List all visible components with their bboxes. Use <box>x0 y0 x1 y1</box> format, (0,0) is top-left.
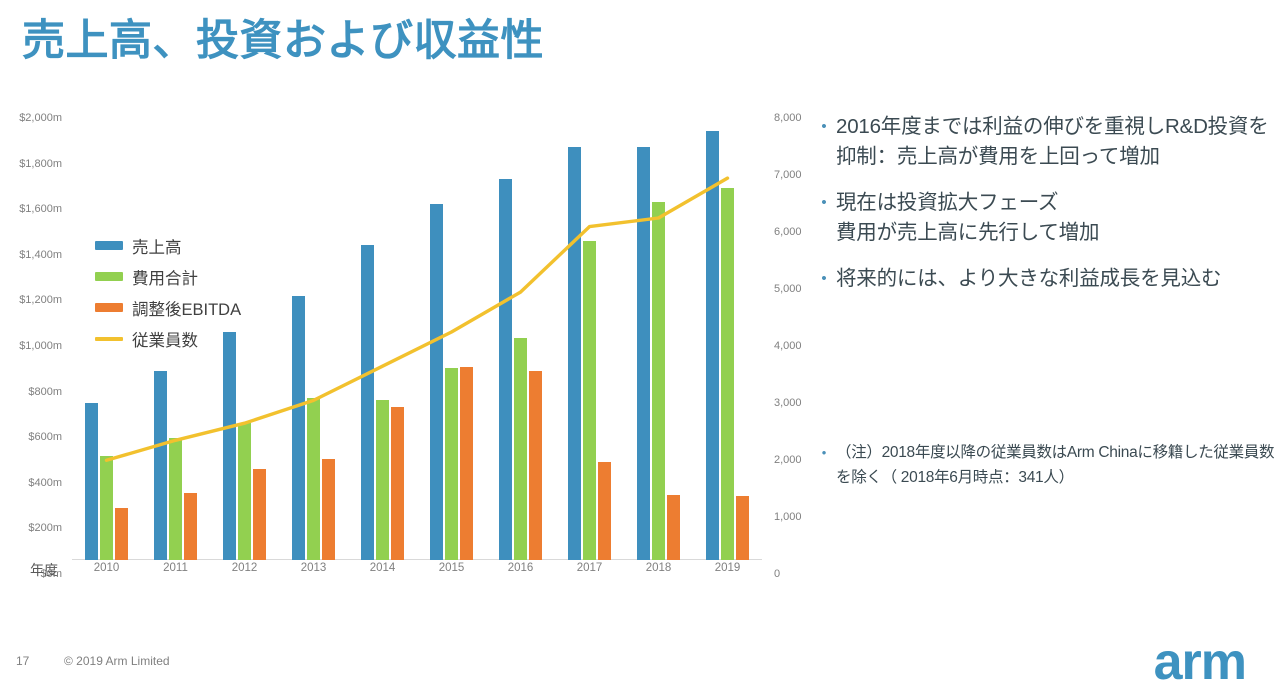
bar-2017-costs <box>583 241 597 560</box>
bullet-item-0: •2016年度までは利益の伸びを重視しR&D投資を抑制：売上高が費用を上回って増… <box>812 112 1280 172</box>
bullet-text: 現在は投資拡大フェーズ費用が売上高に先行して増加 <box>836 188 1099 248</box>
y-axis-left-tick: $400m <box>0 477 70 489</box>
bullet-dot-icon: • <box>812 112 836 172</box>
footnote: • （注）2018年度以降の従業員数はArm Chinaに移籍した従業員数を除く… <box>812 440 1280 490</box>
y-axis-left-tick: $800m <box>0 386 70 398</box>
y-axis-left-tick: $1,600m <box>0 203 70 215</box>
bar-group-2015 <box>430 104 474 560</box>
bar-2013-ebitda <box>322 459 336 560</box>
bullet-item-2: •将来的には、より大きな利益成長を見込む <box>812 264 1280 294</box>
bar-2011-revenue <box>154 371 168 560</box>
bar-group-2018 <box>637 104 681 560</box>
x-axis-tick-2016: 2016 <box>508 562 534 574</box>
y-axis-left-tick: $600m <box>0 431 70 443</box>
footnote-bullet-icon: • <box>812 440 836 490</box>
x-axis-tick-2010: 2010 <box>94 562 120 574</box>
bar-2018-ebitda <box>667 495 681 560</box>
bar-2010-costs <box>100 456 114 560</box>
bar-2019-ebitda <box>736 496 750 560</box>
bar-2019-costs <box>721 188 735 560</box>
legend-label: 調整後EBITDA <box>132 296 241 320</box>
bar-2018-costs <box>652 202 666 560</box>
slide-canvas: 売上高、投資および収益性 $2,000m$1,800m$1,600m$1,400… <box>0 0 1280 700</box>
legend-label: 従業員数 <box>132 327 198 351</box>
legend-item-0: 売上高 <box>95 230 325 261</box>
y-axis-right-tick: 4,000 <box>766 340 826 352</box>
bar-2015-revenue <box>430 204 444 560</box>
x-axis-tick-2014: 2014 <box>370 562 396 574</box>
y-axis-right-tick: 0 <box>766 568 826 580</box>
bar-2011-ebitda <box>184 493 198 560</box>
legend-item-2: 調整後EBITDA <box>95 292 325 323</box>
bar-group-2016 <box>499 104 543 560</box>
y-axis-left-tick: $1,000m <box>0 340 70 352</box>
x-axis-tick-2013: 2013 <box>301 562 327 574</box>
bar-2014-ebitda <box>391 407 405 560</box>
bar-2015-ebitda <box>460 367 474 560</box>
legend-swatch-icon <box>95 272 123 281</box>
legend-swatch-icon <box>95 303 123 312</box>
x-axis-tick-2011: 2011 <box>163 562 188 574</box>
legend-swatch-icon <box>95 241 123 250</box>
bar-2014-costs <box>376 400 390 560</box>
x-axis-tick-2019: 2019 <box>715 562 741 574</box>
bar-2013-costs <box>307 398 321 560</box>
bullet-dot-icon: • <box>812 188 836 248</box>
x-axis-tick-2017: 2017 <box>577 562 603 574</box>
y-axis-left-tick: $200m <box>0 522 70 534</box>
legend-label: 売上高 <box>132 234 182 258</box>
bullet-list: •2016年度までは利益の伸びを重視しR&D投資を抑制：売上高が費用を上回って増… <box>812 112 1280 310</box>
legend-swatch-icon <box>95 337 123 341</box>
bar-group-2014 <box>361 104 405 560</box>
bar-group-2019 <box>706 104 750 560</box>
bar-2017-revenue <box>568 147 582 560</box>
footnote-text: （注）2018年度以降の従業員数はArm Chinaに移籍した従業員数を除く（ … <box>836 440 1280 490</box>
bar-2018-revenue <box>637 147 651 560</box>
x-axis-tick-2018: 2018 <box>646 562 672 574</box>
bar-2016-costs <box>514 338 528 560</box>
bar-2017-ebitda <box>598 462 612 560</box>
bar-group-2017 <box>568 104 612 560</box>
page-title: 売上高、投資および収益性 <box>22 16 544 68</box>
bullet-item-1: •現在は投資拡大フェーズ費用が売上高に先行して増加 <box>812 188 1280 248</box>
bar-2014-revenue <box>361 245 375 560</box>
y-axis-left-tick: $1,800m <box>0 158 70 170</box>
x-axis-labels: 2010201120122013201420152016201720182019 <box>72 562 762 586</box>
x-axis-tick-2012: 2012 <box>232 562 258 574</box>
bar-2016-ebitda <box>529 371 543 560</box>
bar-2012-revenue <box>223 332 237 560</box>
bar-2016-revenue <box>499 179 513 560</box>
x-axis-tick-2015: 2015 <box>439 562 465 574</box>
bar-2010-ebitda <box>115 508 129 560</box>
y-axis-left-tick: $2,000m <box>0 112 70 124</box>
bar-2012-costs <box>238 423 252 560</box>
bar-2010-revenue <box>85 403 99 560</box>
x-axis-title: 年度 <box>30 560 58 580</box>
bullet-text: 2016年度までは利益の伸びを重視しR&D投資を抑制：売上高が費用を上回って増加 <box>836 112 1280 172</box>
bar-2012-ebitda <box>253 469 267 560</box>
bullet-dot-icon: • <box>812 264 836 294</box>
y-axis-right-tick: 3,000 <box>766 397 826 409</box>
bar-2015-costs <box>445 368 459 560</box>
legend-item-1: 費用合計 <box>95 261 325 292</box>
legend-label: 費用合計 <box>132 265 198 289</box>
y-axis-left: $2,000m$1,800m$1,600m$1,400m$1,200m$1,00… <box>0 104 70 560</box>
y-axis-right-tick: 1,000 <box>766 511 826 523</box>
page-number: 17 <box>16 654 29 668</box>
y-axis-left-tick: $1,200m <box>0 294 70 306</box>
copyright-text: © 2019 Arm Limited <box>64 654 170 668</box>
bullet-text: 将来的には、より大きな利益成長を見込む <box>836 264 1221 294</box>
chart-legend: 売上高費用合計調整後EBITDA従業員数 <box>95 230 325 354</box>
chart-container: $2,000m$1,800m$1,600m$1,400m$1,200m$1,00… <box>0 90 810 590</box>
legend-item-3: 従業員数 <box>95 323 325 354</box>
bar-2011-costs <box>169 438 183 560</box>
arm-logo: arm <box>1154 636 1246 688</box>
y-axis-left-tick: $1,400m <box>0 249 70 261</box>
bar-2019-revenue <box>706 131 720 560</box>
